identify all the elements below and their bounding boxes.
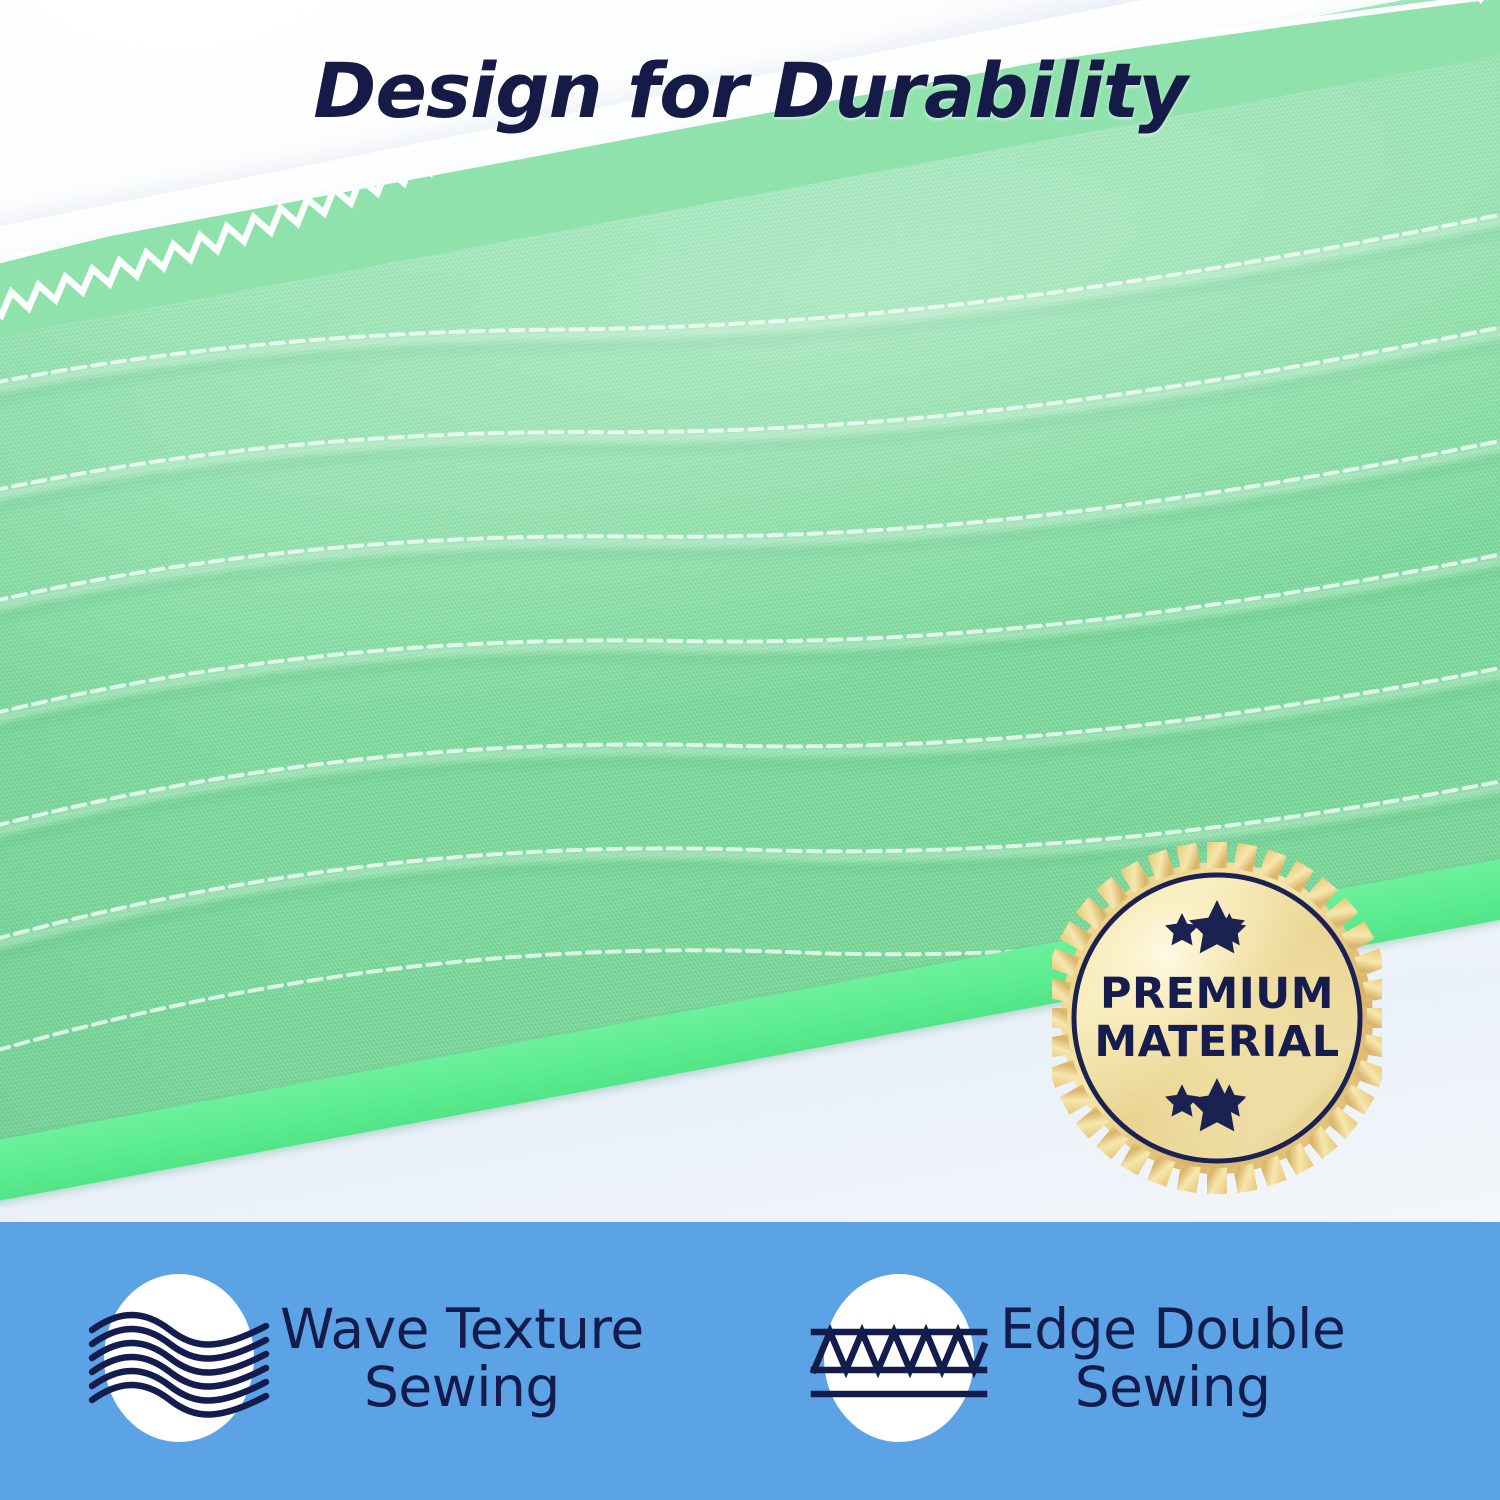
product-marketing-image: Design for Durability xyxy=(0,0,1500,1500)
feature-edge-double-sewing: Edge Double Sewing xyxy=(824,1274,1345,1442)
feature-label-wave-texture-sewing: Wave Texture Sewing xyxy=(280,1300,644,1417)
feature-list: Wave Texture Sewing Edge Double Sewing xyxy=(0,1222,1500,1500)
feature-label-edge-double-sewing: Edge Double Sewing xyxy=(1000,1300,1345,1417)
zigzag-stitch-icon xyxy=(824,1274,974,1442)
premium-material-seal: PREMIUM MATERIAL xyxy=(1052,838,1382,1198)
feature-wave-texture-sewing: Wave Texture Sewing xyxy=(104,1274,644,1442)
wave-lines-icon xyxy=(104,1274,254,1442)
page-title: Design for Durability xyxy=(0,46,1500,135)
feature-footer-bar: Wave Texture Sewing Edge Double Sewing xyxy=(0,1222,1500,1500)
